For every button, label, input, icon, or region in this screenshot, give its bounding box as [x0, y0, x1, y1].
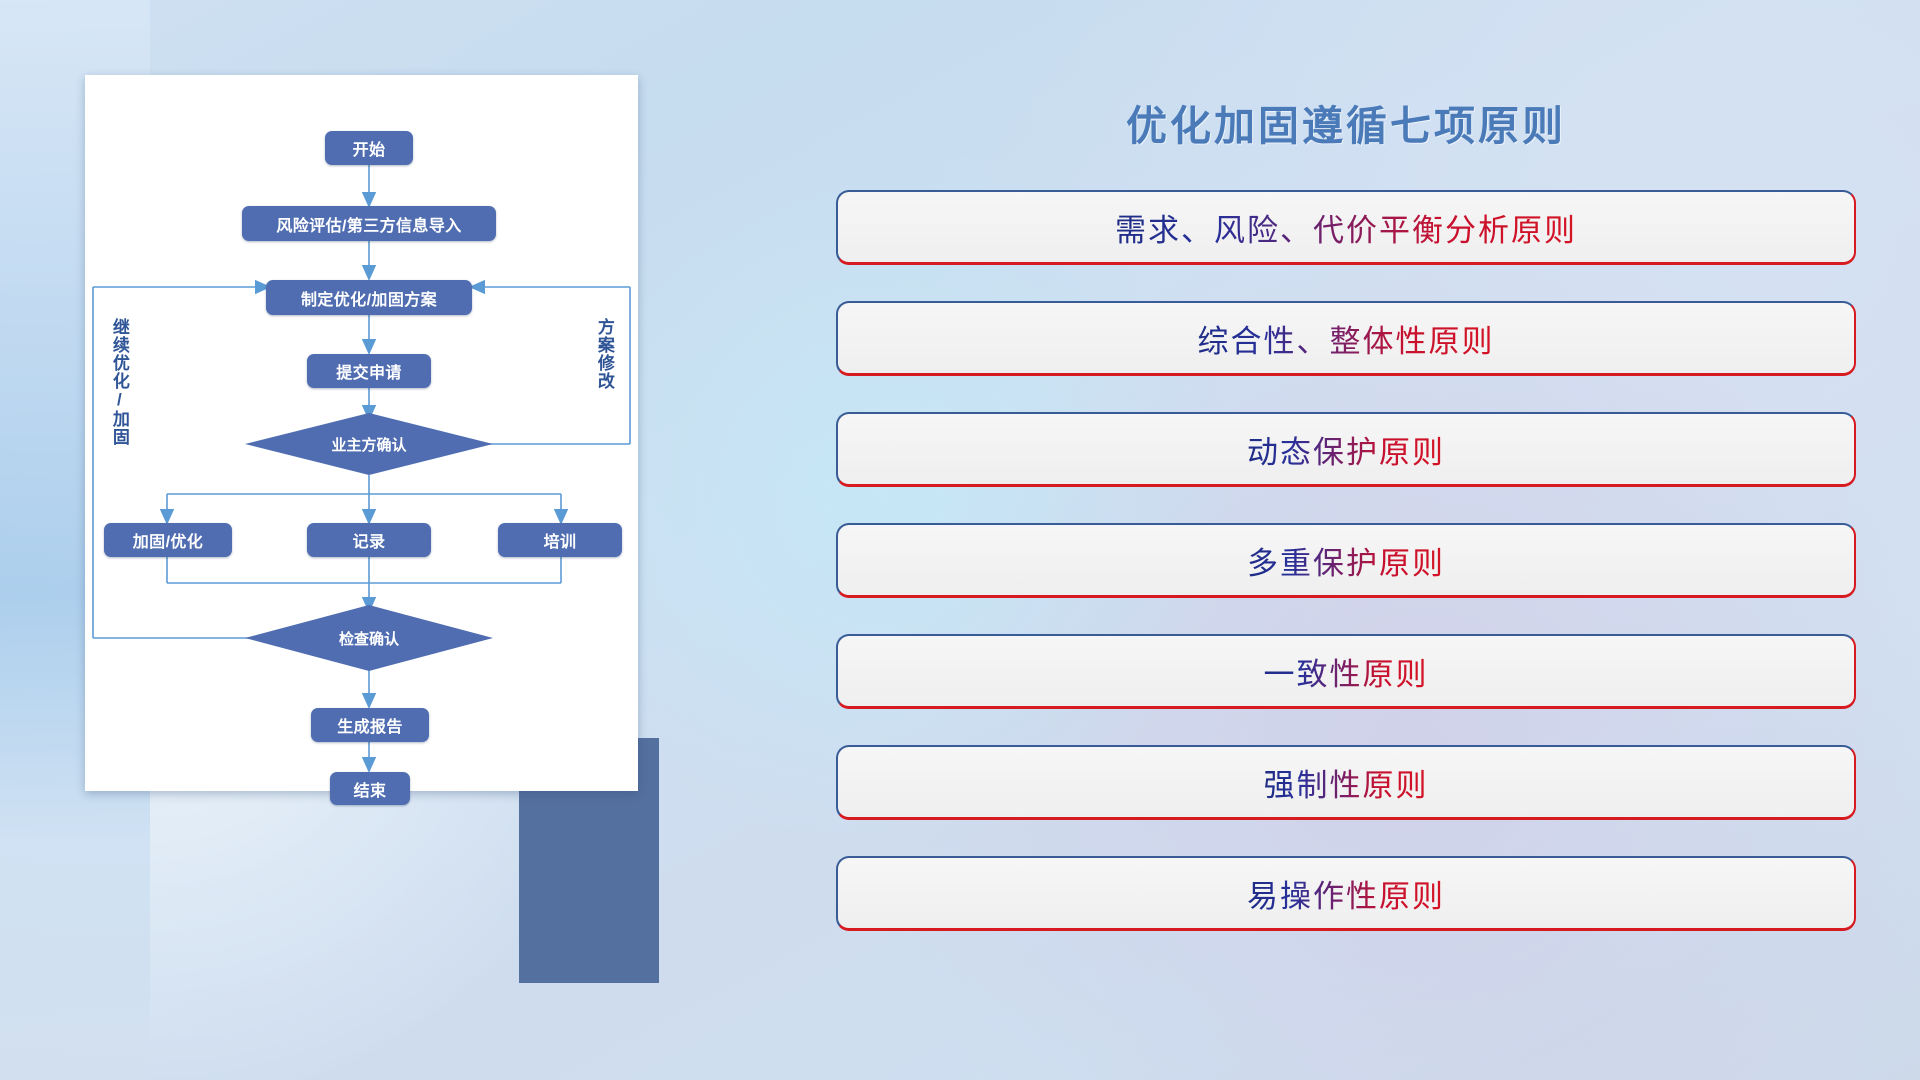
principle-label-5: 一致性原则 — [1264, 649, 1429, 694]
node-reinforce-optimize[interactable]: 加固/优化 — [104, 523, 232, 557]
node-record[interactable]: 记录 — [307, 523, 431, 557]
decision-owner-confirm-shape — [245, 413, 493, 475]
node-training[interactable]: 培训 — [498, 523, 622, 557]
principle-item-3[interactable]: 动态保护原则 — [836, 412, 1856, 487]
principle-item-5[interactable]: 一致性原则 — [836, 634, 1856, 709]
principle-label-3: 动态保护原则 — [1247, 427, 1445, 472]
flowchart-card: 业主方确认 检查确认 开始 风险评估/第三方信息导入 制定优化/加固方案 提交申… — [85, 75, 638, 791]
edge-label-plan-revision: 方案修改 — [595, 318, 613, 390]
principle-label-7: 易操作性原则 — [1247, 871, 1445, 916]
principle-item-7[interactable]: 易操作性原则 — [836, 856, 1856, 931]
principle-item-1[interactable]: 需求、风险、代价平衡分析原则 — [836, 190, 1856, 265]
flowchart-connectors — [85, 75, 638, 791]
principle-label-4: 多重保护原则 — [1247, 538, 1445, 583]
principle-item-4[interactable]: 多重保护原则 — [836, 523, 1856, 598]
principle-label-2: 综合性、整体性原则 — [1198, 316, 1495, 361]
node-make-plan[interactable]: 制定优化/加固方案 — [266, 280, 472, 315]
principle-label-1: 需求、风险、代价平衡分析原则 — [1115, 205, 1577, 250]
node-end[interactable]: 结束 — [330, 772, 410, 805]
decision-inspect-shape — [245, 605, 493, 671]
principles-panel: 优化加固遵循七项原则 需求、风险、代价平衡分析原则 综合性、整体性原则 动态保护… — [836, 70, 1856, 1030]
edge-label-continue-optimize: 继续优化/加固 — [110, 318, 128, 446]
principle-item-6[interactable]: 强制性原则 — [836, 745, 1856, 820]
principle-label-6: 强制性原则 — [1264, 760, 1429, 805]
principles-title: 优化加固遵循七项原则 — [836, 92, 1856, 152]
node-generate-report[interactable]: 生成报告 — [311, 708, 429, 742]
node-risk-assessment[interactable]: 风险评估/第三方信息导入 — [242, 206, 496, 241]
principle-item-2[interactable]: 综合性、整体性原则 — [836, 301, 1856, 376]
node-start[interactable]: 开始 — [325, 131, 413, 165]
node-submit-application[interactable]: 提交申请 — [307, 354, 431, 388]
